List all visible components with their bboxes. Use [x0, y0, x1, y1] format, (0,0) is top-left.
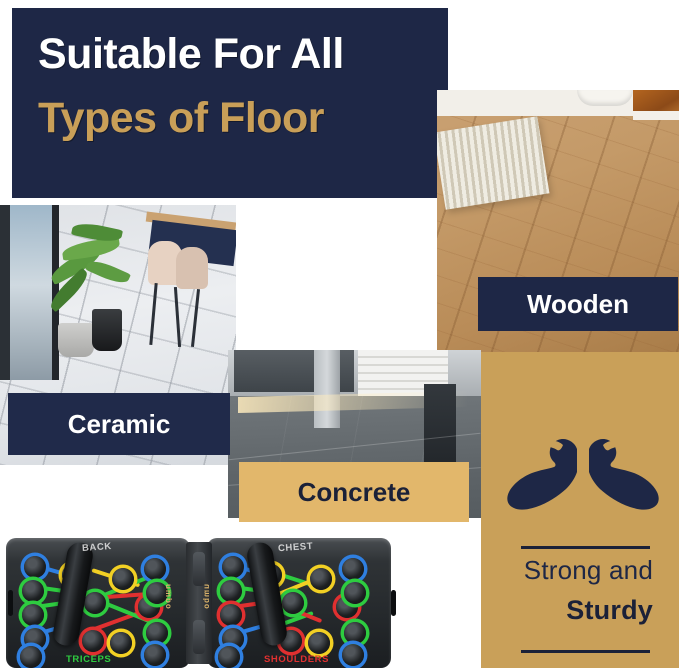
- board-port: [344, 582, 366, 604]
- board-port: [222, 556, 244, 578]
- caption-concrete-label: Concrete: [298, 477, 411, 508]
- board-port: [144, 558, 166, 580]
- rug-object: [437, 116, 549, 209]
- caption-ceramic: Ceramic: [8, 393, 230, 455]
- plant-pot: [58, 323, 94, 357]
- board-port: [110, 632, 132, 654]
- plant-pot: [92, 309, 122, 351]
- caption-ceramic-label: Ceramic: [68, 409, 171, 440]
- strong-text: Strong and: [481, 554, 667, 586]
- board-port: [20, 646, 42, 668]
- pushup-board-product-photo: umbo umbo BACK CHEST TRICEPS SHOULDERS: [6, 538, 398, 668]
- room-divider-object: [424, 384, 456, 470]
- board-port: [22, 604, 44, 626]
- board-port: [144, 644, 166, 666]
- muscle-label-shoulders: SHOULDERS: [264, 654, 329, 665]
- board-port: [24, 556, 46, 578]
- stool-object: [176, 247, 208, 289]
- board-port: [112, 568, 134, 590]
- divider-bottom: [521, 650, 650, 653]
- board-port: [342, 644, 364, 666]
- board-port: [282, 592, 304, 614]
- board-port: [218, 646, 240, 668]
- brand-logo-left: umbo: [164, 584, 173, 610]
- board-port: [344, 622, 366, 644]
- headline-panel: [12, 8, 448, 198]
- stool-leg: [174, 287, 181, 347]
- caption-wooden: Wooden: [478, 277, 678, 331]
- stool-leg: [191, 289, 200, 347]
- board-handle-notch: [8, 590, 13, 616]
- plant-leaf: [85, 257, 131, 288]
- marketing-image-canvas: Suitable For All Types of Floor Strong a…: [0, 0, 679, 668]
- board-port: [310, 568, 332, 590]
- board-port: [84, 592, 106, 614]
- sturdy-text: Sturdy: [481, 594, 667, 626]
- board-port: [220, 580, 242, 602]
- board-port: [308, 632, 330, 654]
- board-port: [22, 580, 44, 602]
- stool-leg: [149, 283, 157, 345]
- flexed-biceps-icon: [503, 437, 663, 513]
- bowl-object: [577, 90, 633, 106]
- board-port: [146, 622, 168, 644]
- muscle-label-back: BACK: [82, 541, 113, 554]
- board-handle-notch: [391, 590, 396, 616]
- divider-top: [521, 546, 650, 549]
- board-port: [82, 630, 104, 652]
- window-object: [0, 205, 59, 380]
- caption-concrete: Concrete: [239, 462, 469, 522]
- board-port: [342, 558, 364, 580]
- board-port: [220, 604, 242, 626]
- brand-logo-right: umbo: [202, 584, 211, 610]
- column-object: [314, 350, 340, 428]
- shelf-object: [633, 90, 679, 120]
- muscle-label-triceps: TRICEPS: [66, 654, 111, 665]
- caption-wooden-label: Wooden: [527, 289, 629, 320]
